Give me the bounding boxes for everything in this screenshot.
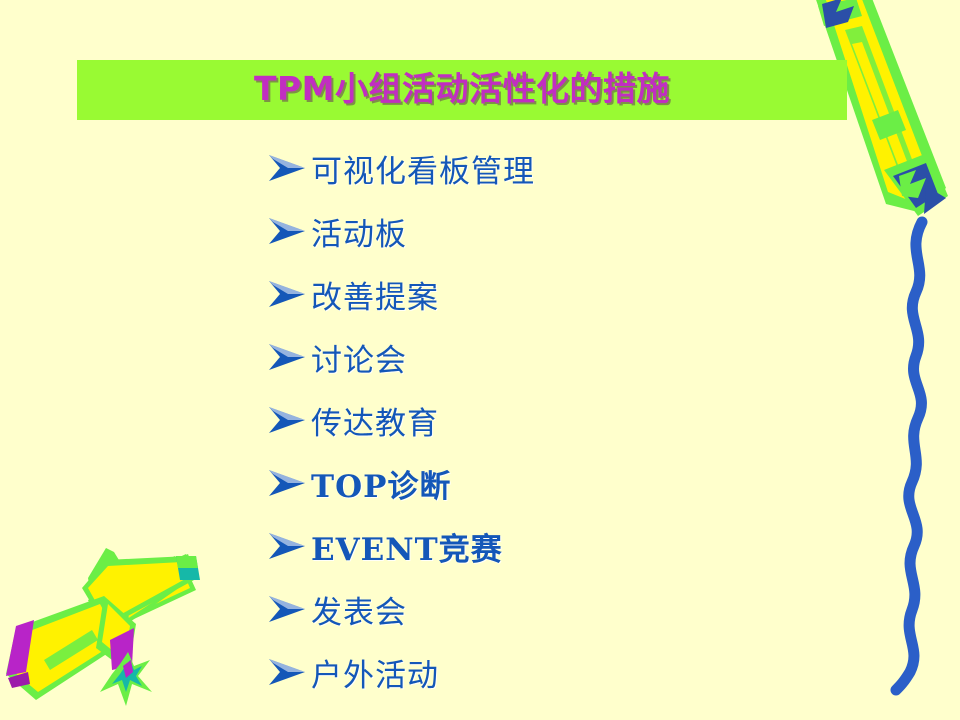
list-item[interactable]: 户外活动 <box>265 641 865 704</box>
list-item-label: 讨论会 <box>311 335 407 380</box>
title-bar: TPM小组活动活性化的措施 <box>77 60 847 120</box>
list-item-label: EVENT竞赛 <box>311 524 503 569</box>
arrowhead-bullet-icon <box>265 400 311 440</box>
bullet-list: 可视化看板管理 活动板 改善提案 <box>265 137 865 704</box>
crayon-b <box>82 556 200 628</box>
list-item[interactable]: EVENT竞赛 <box>265 515 865 578</box>
arrowhead-bullet-icon <box>265 463 311 503</box>
list-item-label: 发表会 <box>311 587 407 632</box>
crayon-c <box>6 596 128 700</box>
list-item-label: 传达教育 <box>311 398 439 443</box>
crayon-tips-cluster <box>96 596 152 706</box>
list-item-label: TOP诊断 <box>311 461 451 506</box>
arrowhead-bullet-icon <box>265 211 311 251</box>
arrowhead-bullet-icon <box>265 589 311 629</box>
page-title: TPM小组活动活性化的措施 <box>77 60 847 120</box>
list-item-label: 可视化看板管理 <box>311 146 535 191</box>
arrowhead-bullet-icon <box>265 652 311 692</box>
blue-wavy-line-icon <box>896 222 922 690</box>
crossed-crayons-bottom-left-icon <box>6 548 200 706</box>
list-item[interactable]: TOP诊断 <box>265 452 865 515</box>
list-item-label: 活动板 <box>311 209 407 254</box>
list-item[interactable]: 传达教育 <box>265 389 865 452</box>
list-item-label: 改善提案 <box>311 272 439 317</box>
list-item[interactable]: 发表会 <box>265 578 865 641</box>
list-item[interactable]: 讨论会 <box>265 326 865 389</box>
arrowhead-bullet-icon <box>265 148 311 188</box>
arrowhead-bullet-icon <box>265 274 311 314</box>
list-item[interactable]: 改善提案 <box>265 263 865 326</box>
slide-canvas: TPM小组活动活性化的措施 可视化看板管理 活动板 <box>0 0 960 720</box>
arrowhead-bullet-icon <box>265 526 311 566</box>
arrowhead-bullet-icon <box>265 337 311 377</box>
list-item-label: 户外活动 <box>311 650 439 695</box>
list-item[interactable]: 活动板 <box>265 200 865 263</box>
list-item[interactable]: 可视化看板管理 <box>265 137 865 200</box>
